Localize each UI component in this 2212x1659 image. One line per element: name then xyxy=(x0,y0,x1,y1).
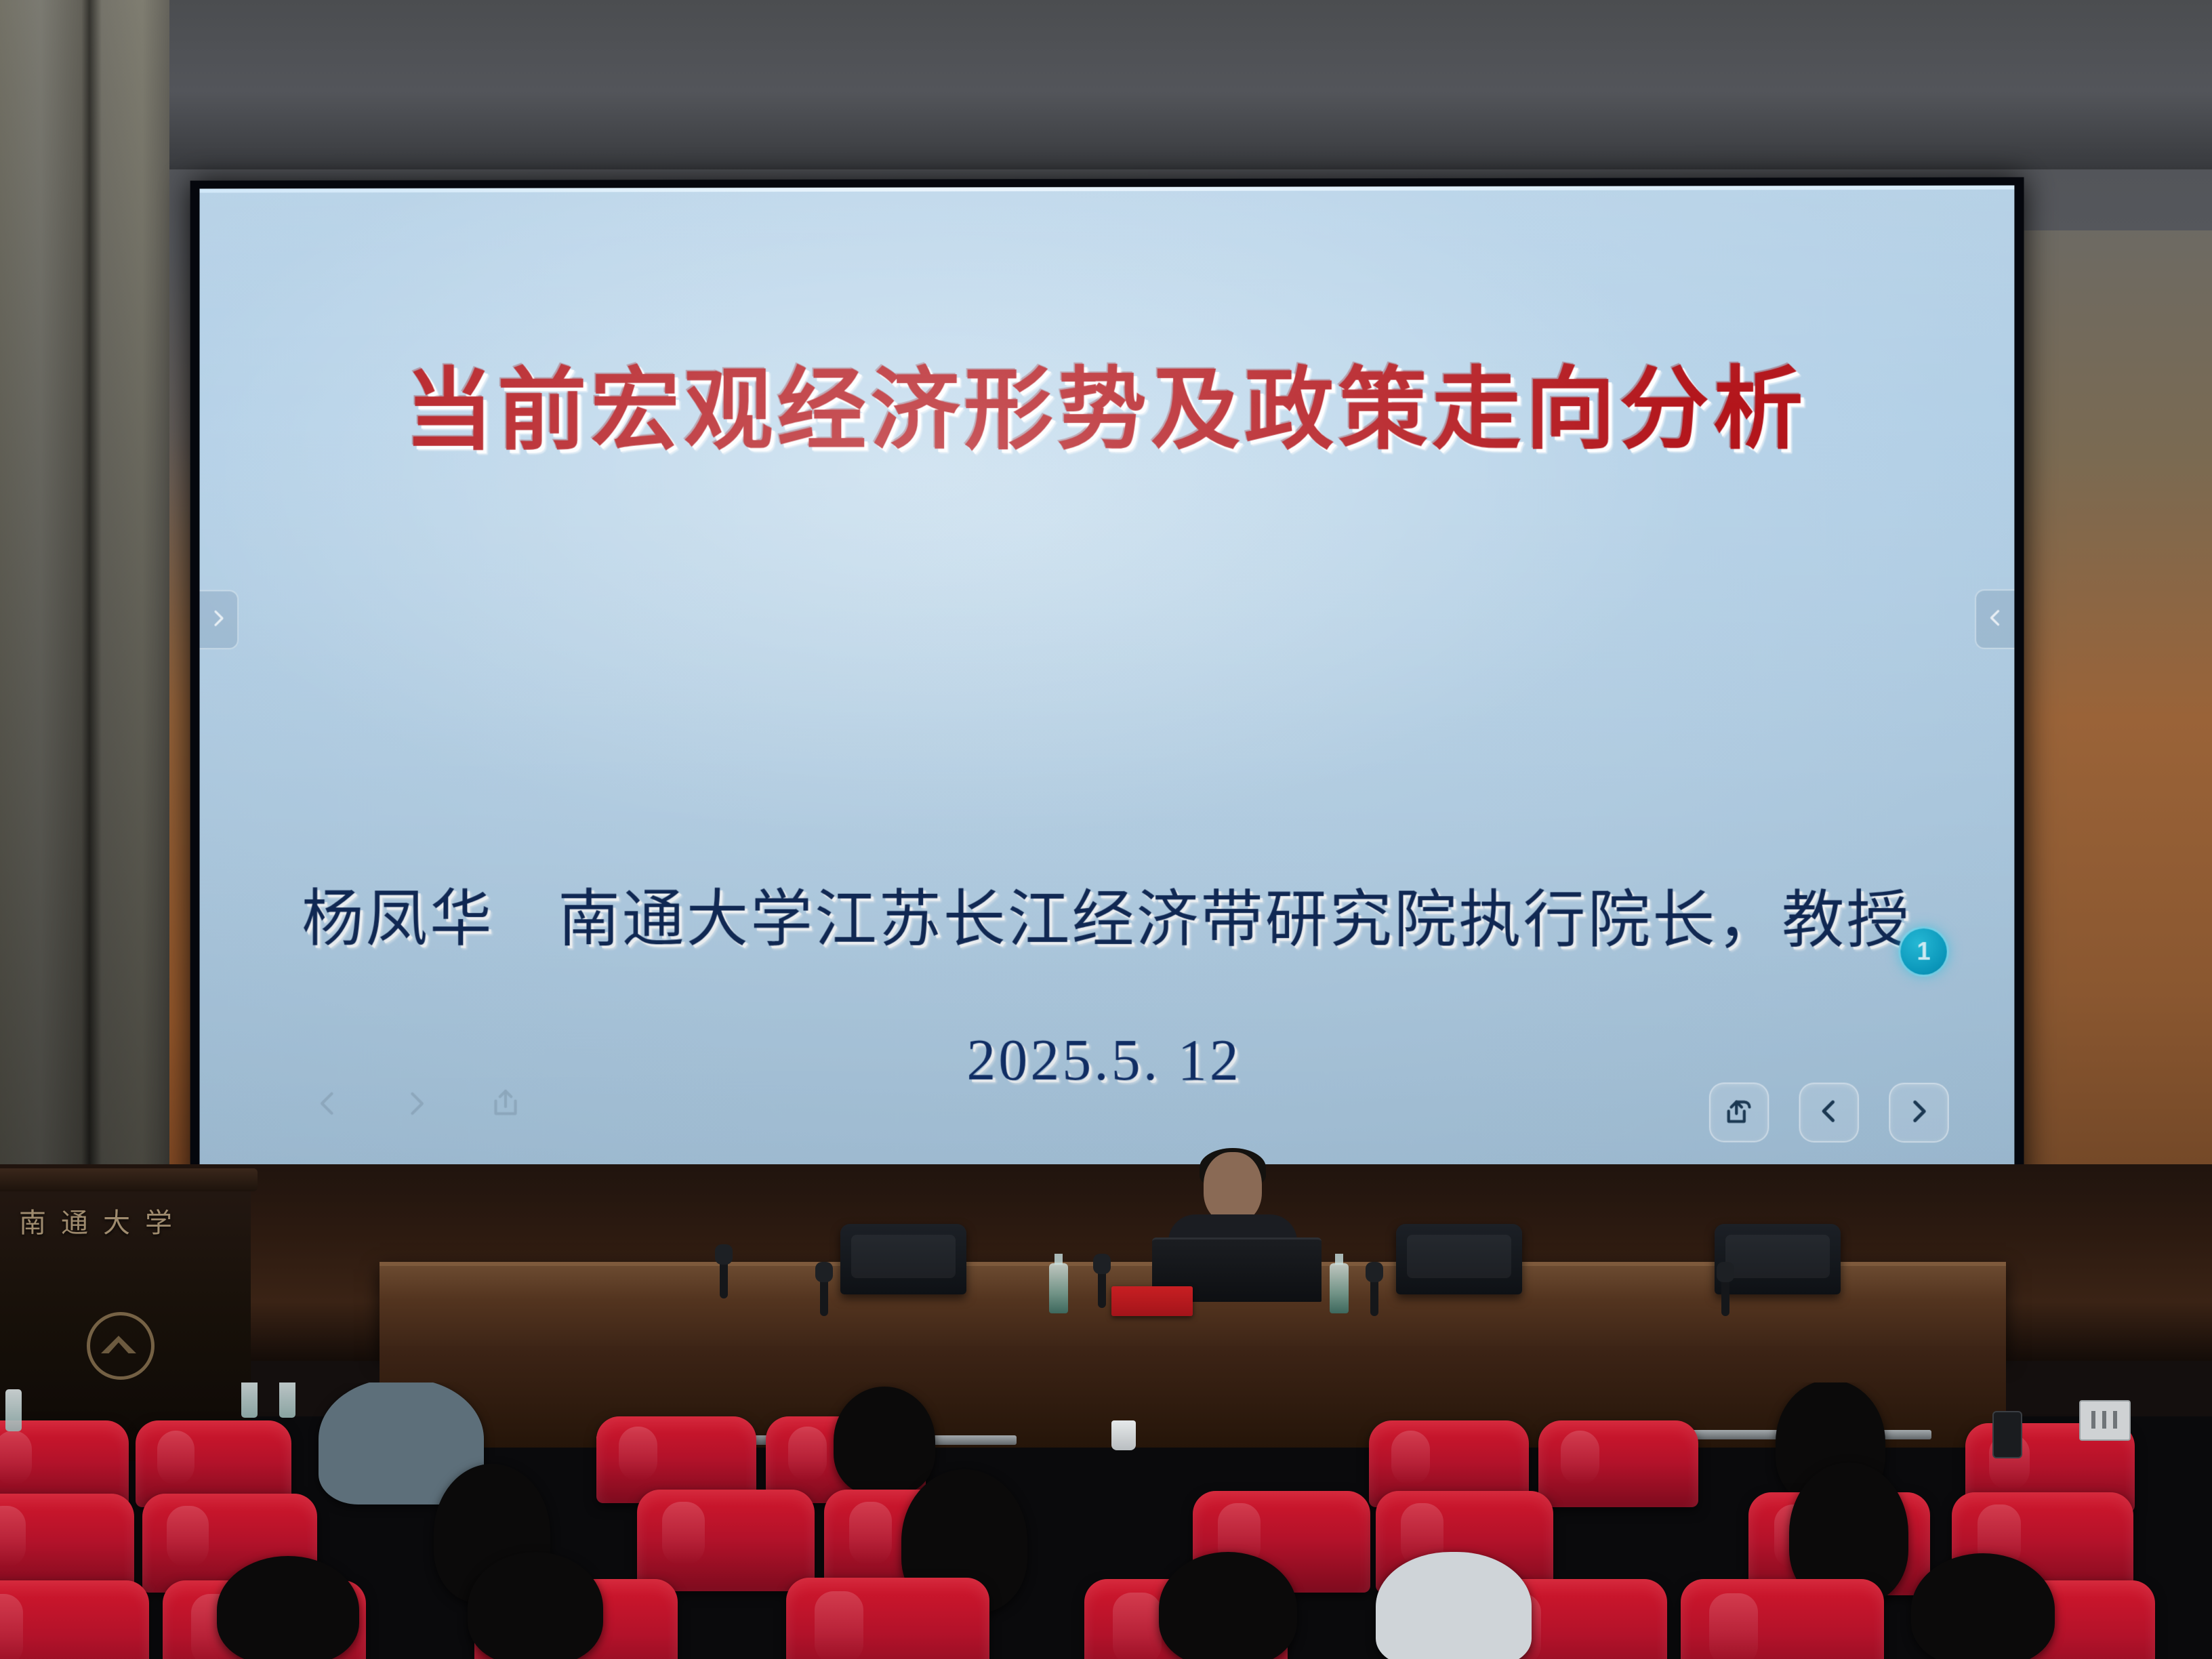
player-controls-left xyxy=(298,1075,535,1134)
previous-slide-button[interactable] xyxy=(1799,1082,1859,1142)
left-curtain xyxy=(0,0,169,1288)
previous-slide-button[interactable] xyxy=(298,1075,357,1134)
smartphone xyxy=(1992,1411,2022,1458)
seat xyxy=(1681,1579,1884,1659)
expand-right-panel-tab[interactable] xyxy=(1975,589,2014,649)
audience-member xyxy=(468,1552,603,1659)
chevron-right-icon xyxy=(207,607,230,633)
microphone xyxy=(720,1255,728,1298)
speaker-head xyxy=(1204,1152,1262,1223)
audience-member xyxy=(1159,1552,1297,1659)
chevron-left-icon xyxy=(1984,606,2007,632)
audience-member xyxy=(217,1556,359,1659)
next-slide-button[interactable] xyxy=(387,1076,447,1135)
projection-screen: 当前宏观经济形势及政策走向分析 杨凤华 南通大学江苏长江经济带研究院执行院长，教… xyxy=(200,186,2015,1196)
share-icon xyxy=(489,1086,523,1124)
microphone xyxy=(1721,1273,1729,1316)
auditorium-photo: 当前宏观经济形势及政策走向分析 杨凤华 南通大学江苏长江经济带研究院执行院长，教… xyxy=(0,0,2212,1659)
chair xyxy=(1715,1224,1841,1294)
presentation-slide: 当前宏观经济形势及政策走向分析 杨凤华 南通大学江苏长江经济带研究院执行院长，教… xyxy=(200,186,2015,1196)
seat xyxy=(1538,1420,1698,1507)
slide-title: 当前宏观经济形势及政策走向分析 xyxy=(200,336,2015,468)
seat xyxy=(0,1494,134,1593)
lectern-top xyxy=(0,1168,258,1191)
wall-power-outlet xyxy=(2079,1400,2131,1441)
chevron-right-icon xyxy=(1903,1095,1934,1130)
audience-member xyxy=(1911,1553,2055,1659)
water-bottle xyxy=(1330,1263,1349,1313)
slide-number-badge: 1 xyxy=(1898,926,1948,977)
microphone xyxy=(820,1273,828,1316)
share-button[interactable] xyxy=(476,1076,535,1135)
seat xyxy=(0,1580,149,1659)
next-slide-button[interactable] xyxy=(1889,1083,1949,1143)
chevron-left-icon xyxy=(310,1086,344,1124)
chair xyxy=(1396,1224,1522,1294)
water-bottle xyxy=(241,1382,258,1418)
water-bottle xyxy=(5,1389,22,1431)
audience-member xyxy=(1376,1552,1532,1659)
microphone xyxy=(1098,1265,1106,1308)
player-controls-right xyxy=(1709,1082,1949,1143)
expand-left-panel-tab[interactable] xyxy=(200,590,239,649)
water-bottle xyxy=(1049,1263,1068,1313)
share-button[interactable] xyxy=(1709,1082,1769,1142)
audience-member xyxy=(834,1387,935,1495)
audience-seating xyxy=(0,1382,2212,1659)
projection-screen-frame: 当前宏观经济形势及政策走向分析 杨凤华 南通大学江苏长江经济带研究院执行院长，教… xyxy=(190,177,2024,1205)
chevron-left-icon xyxy=(1814,1095,1845,1130)
paper-cup xyxy=(1111,1420,1136,1450)
water-bottle xyxy=(279,1382,295,1418)
slide-presenter-line: 杨凤华 南通大学江苏长江经济带研究院执行院长，教授 xyxy=(200,868,2015,960)
seat xyxy=(786,1578,989,1659)
chevron-right-icon xyxy=(400,1086,434,1124)
seat xyxy=(637,1490,815,1591)
share-icon xyxy=(1723,1095,1755,1130)
chair xyxy=(840,1224,966,1294)
lectern-university-label: 南通大学 xyxy=(19,1201,243,1240)
microphone xyxy=(1370,1273,1378,1316)
nantong-university-emblem-icon xyxy=(87,1312,155,1380)
red-nameplate xyxy=(1111,1286,1193,1316)
